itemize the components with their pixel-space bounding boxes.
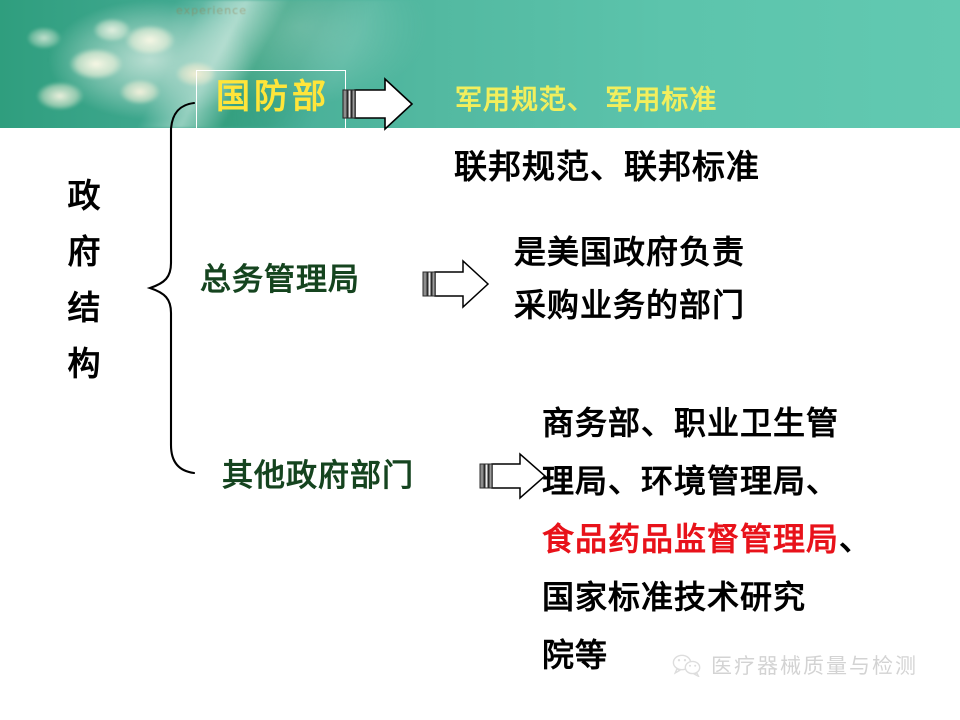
- branch-label-gsa: 总务管理局: [200, 254, 360, 299]
- caption-char-4: 构: [52, 336, 116, 392]
- page-title-government-structure: 政 府 结 构: [52, 168, 116, 392]
- gsa-description: 是美国政府负责 采购业务的部门: [514, 226, 745, 332]
- gsa-description-line-1: 是美国政府负责: [514, 226, 745, 279]
- other-description-line-4: 国家标准技术研究: [542, 568, 872, 626]
- watermark: 医疗器械质量与检测: [672, 650, 918, 680]
- branch-label-dod: 国防部: [202, 75, 344, 119]
- caption-char-2: 府: [52, 224, 116, 280]
- banner-photo-watermark: experience: [176, 4, 247, 17]
- caption-char-3: 结: [52, 280, 116, 336]
- watermark-text: 医疗器械质量与检测: [711, 650, 918, 680]
- slide-canvas: experience 国防部 军用规范、 军用标准 政 府 结 构 联邦规范、联…: [0, 0, 960, 720]
- other-description-line-1: 商务部、职业卫生管: [542, 394, 872, 452]
- federal-standards-line: 联邦规范、联邦标准: [454, 140, 760, 188]
- block-arrow-right-icon-other: [478, 450, 548, 504]
- other-departments-description: 商务部、职业卫生管 理局、环境管理局、 食品药品监督管理局、 国家标准技术研究 …: [542, 394, 872, 684]
- other-description-line-3: 食品药品监督管理局、: [542, 510, 872, 568]
- other-description-line-2: 理局、环境管理局、: [542, 452, 872, 510]
- wechat-icon: [672, 653, 702, 677]
- block-arrow-right-icon-gsa: [421, 256, 491, 312]
- caption-char-1: 政: [52, 168, 116, 224]
- fda-highlight: 食品药品监督管理局: [542, 520, 839, 558]
- block-arrow-right-icon-dod: [341, 76, 415, 132]
- branch-label-other-departments: 其他政府部门: [222, 450, 414, 495]
- fda-highlight-tail: 、: [839, 520, 872, 558]
- banner-title: 军用规范、 军用标准: [455, 78, 717, 117]
- gsa-description-line-2: 采购业务的部门: [514, 279, 745, 332]
- grouping-brace: [120, 95, 210, 485]
